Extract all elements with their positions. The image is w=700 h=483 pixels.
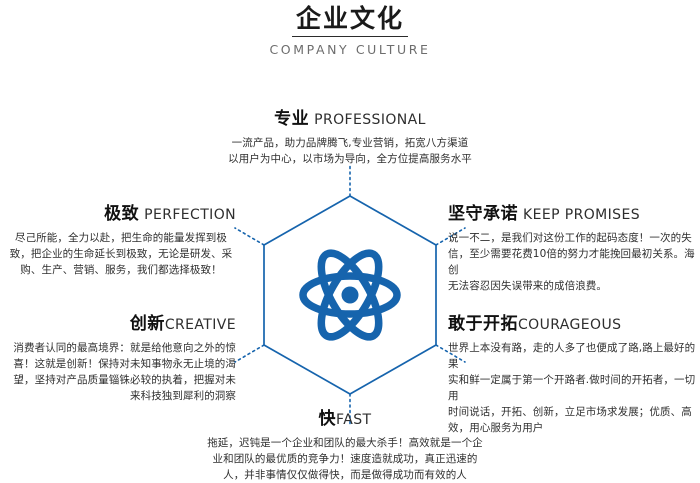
section-creative: 创新CREATIVE 消费者认同的最高境界：就是给他意向之外的惊 喜！这就是创新…	[6, 313, 236, 404]
body-line: 实和鲜一定属于第一个开路者.做时间的开拓者，一切用	[448, 372, 696, 404]
body-line: 人，并非事情仅仅做得快，而是做得成功而有效的人	[180, 467, 510, 483]
section-body: 尽己所能，全力以赴，把生命的能量发挥到极 致，把企业的生命延长到极致，无论是研发…	[6, 230, 236, 278]
body-line: 一流产品，助力品牌腾飞,专业营销，拓宽八方渠道	[200, 135, 500, 151]
section-heading-cn: 创新	[130, 314, 165, 334]
page-subtitle: COMPANY CULTURE	[0, 41, 700, 59]
body-line: 尽己所能，全力以赴，把生命的能量发挥到极	[6, 230, 236, 246]
body-line: 信，至少需要花费10倍的努力才能挽回最初关系。海创	[448, 246, 696, 278]
section-heading-cn: 极致	[104, 204, 139, 224]
body-line: 世界上本没有路，走的人多了也便成了路,路上最好的果	[448, 340, 696, 372]
section-fast: 快FAST 拖延，迟钝是一个企业和团队的最大杀手！高效就是一个企 业和团队的最优…	[180, 408, 510, 483]
section-heading-en: CREATIVE	[165, 317, 236, 333]
section-heading: 专业PROFESSIONAL	[200, 108, 500, 131]
body-line: 消费者认同的最高境界：就是给他意向之外的惊	[6, 340, 236, 356]
section-heading: 敢于开拓COURAGEOUS	[448, 313, 696, 336]
body-line: 说一不二，是我们对这份工作的起码态度！一次的失	[448, 230, 696, 246]
body-line: 无法容忍因失误带来的成倍浪费。	[448, 278, 696, 294]
section-perfection: 极致PERFECTION 尽己所能，全力以赴，把生命的能量发挥到极 致，把企业的…	[6, 203, 236, 278]
section-professional: 专业PROFESSIONAL 一流产品，助力品牌腾飞,专业营销，拓宽八方渠道 以…	[200, 108, 500, 167]
section-heading: 快FAST	[180, 408, 510, 431]
section-keep-promises: 坚守承诺KEEP PROMISES 说一不二，是我们对这份工作的起码态度！一次的…	[448, 203, 696, 294]
body-line: 来科技独到犀利的洞察	[6, 388, 236, 404]
section-heading-en: PERFECTION	[144, 207, 236, 223]
body-line: 望，坚持对产品质量锱铢必较的执着，把握对未	[6, 372, 236, 388]
section-heading-en: KEEP PROMISES	[523, 207, 640, 223]
section-body: 拖延，迟钝是一个企业和团队的最大杀手！高效就是一个企 业和团队的最优质的竞争力！…	[180, 435, 510, 483]
atom-nucleus-icon	[342, 287, 359, 304]
section-body: 消费者认同的最高境界：就是给他意向之外的惊 喜！这就是创新！保持对未知事物永无止…	[6, 340, 236, 404]
body-line: 喜！这就是创新！保持对未知事物永无止境的渴	[6, 356, 236, 372]
section-body: 一流产品，助力品牌腾飞,专业营销，拓宽八方渠道 以用户为中心，以市场为导向，全方…	[200, 135, 500, 167]
section-heading-en: FAST	[336, 412, 371, 428]
section-heading-cn: 敢于开拓	[448, 314, 518, 334]
body-line: 业和团队的最优质的竞争力！速度造就成功，真正迅速的	[180, 451, 510, 467]
page-title: 企业文化	[292, 4, 408, 37]
section-heading-en: COURAGEOUS	[518, 317, 621, 333]
section-heading-en: PROFESSIONAL	[314, 112, 426, 128]
section-heading: 创新CREATIVE	[6, 313, 236, 336]
page-header: 企业文化 COMPANY CULTURE	[0, 0, 700, 59]
section-heading-cn: 专业	[274, 109, 309, 129]
body-line: 以用户为中心，以市场为导向，全方位提高服务水平	[200, 151, 500, 167]
section-body: 说一不二，是我们对这份工作的起码态度！一次的失 信，至少需要花费10倍的努力才能…	[448, 230, 696, 294]
section-heading-cn: 快	[319, 409, 337, 429]
body-line: 拖延，迟钝是一个企业和团队的最大杀手！高效就是一个企	[180, 435, 510, 451]
section-heading: 坚守承诺KEEP PROMISES	[448, 203, 696, 226]
body-line: 购、生产、营销、服务，我们都选择极致！	[6, 262, 236, 278]
section-heading-cn: 坚守承诺	[448, 204, 518, 224]
section-heading: 极致PERFECTION	[6, 203, 236, 226]
body-line: 致，把企业的生命延长到极致，无论是研发、采	[6, 246, 236, 262]
